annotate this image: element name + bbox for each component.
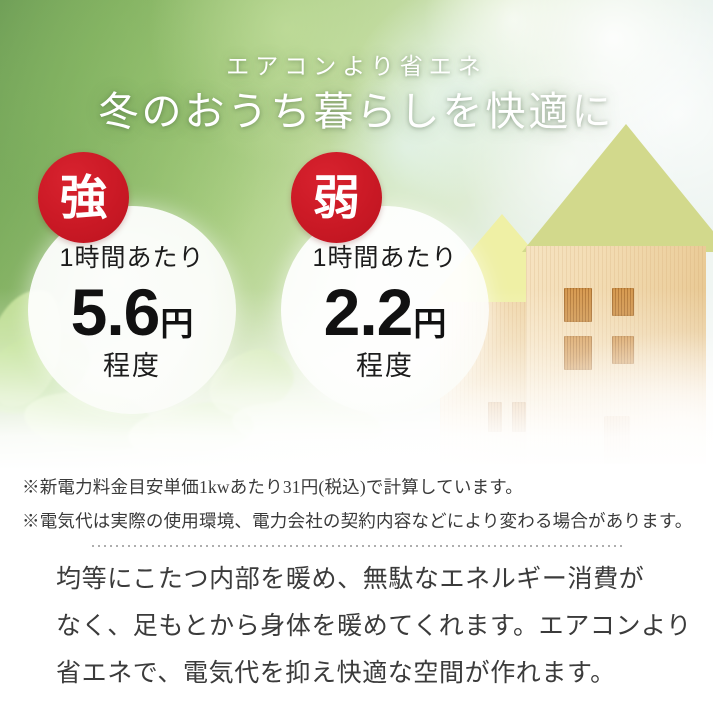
infographic-page: エアコンより省エネ 冬のおうち暮らしを快適に 1時間あたり 5.6 円 程度 強… [0,0,713,713]
power-badge-label: 強 [60,174,107,221]
header-subtitle: エアコンより省エネ [0,47,713,81]
approx-label: 程度 [103,353,161,380]
body-copy-line: 均等にこたつ内部を暖め、無駄なエネルギー消費が [56,556,661,603]
body-copy-line: なく、足もとから身体を暖めてくれます。エアコンより [56,603,661,650]
header-title: 冬のおうち暮らしを快適に [0,79,713,137]
disclaimer-notes: ※新電力料金目安単価1kwあたり31円(税込)で計算しています。 ※電気代は実際… [22,470,702,538]
price-card-weak: 1時間あたり 2.2 円 程度 [281,206,489,414]
price-currency-unit: 円 [413,307,446,340]
power-badge-label: 弱 [313,174,360,221]
per-hour-label: 1時間あたり [60,246,205,271]
power-badge-strong: 強 [38,152,129,243]
disclaimer-note: ※電気代は実際の使用環境、電力会社の契約内容などにより変わる場合があります。 [22,504,702,538]
price-row: 2.2 円 [324,279,447,345]
price-currency-unit: 円 [160,307,193,340]
approx-label: 程度 [356,353,414,380]
body-copy-line: 省エネで、電気代を抑え快適な空間が作れます。 [56,650,661,697]
dotted-divider [90,545,623,547]
power-badge-weak: 弱 [291,152,382,243]
per-hour-label: 1時間あたり [313,246,458,271]
body-copy: 均等にこたつ内部を暖め、無駄なエネルギー消費が なく、足もとから身体を暖めてくれ… [56,556,661,697]
disclaimer-note: ※新電力料金目安単価1kwあたり31円(税込)で計算しています。 [22,470,702,504]
price-row: 5.6 円 [71,279,194,345]
price-amount: 2.2 [324,279,413,345]
price-amount: 5.6 [71,279,160,345]
price-card-strong: 1時間あたり 5.6 円 程度 [28,206,236,414]
